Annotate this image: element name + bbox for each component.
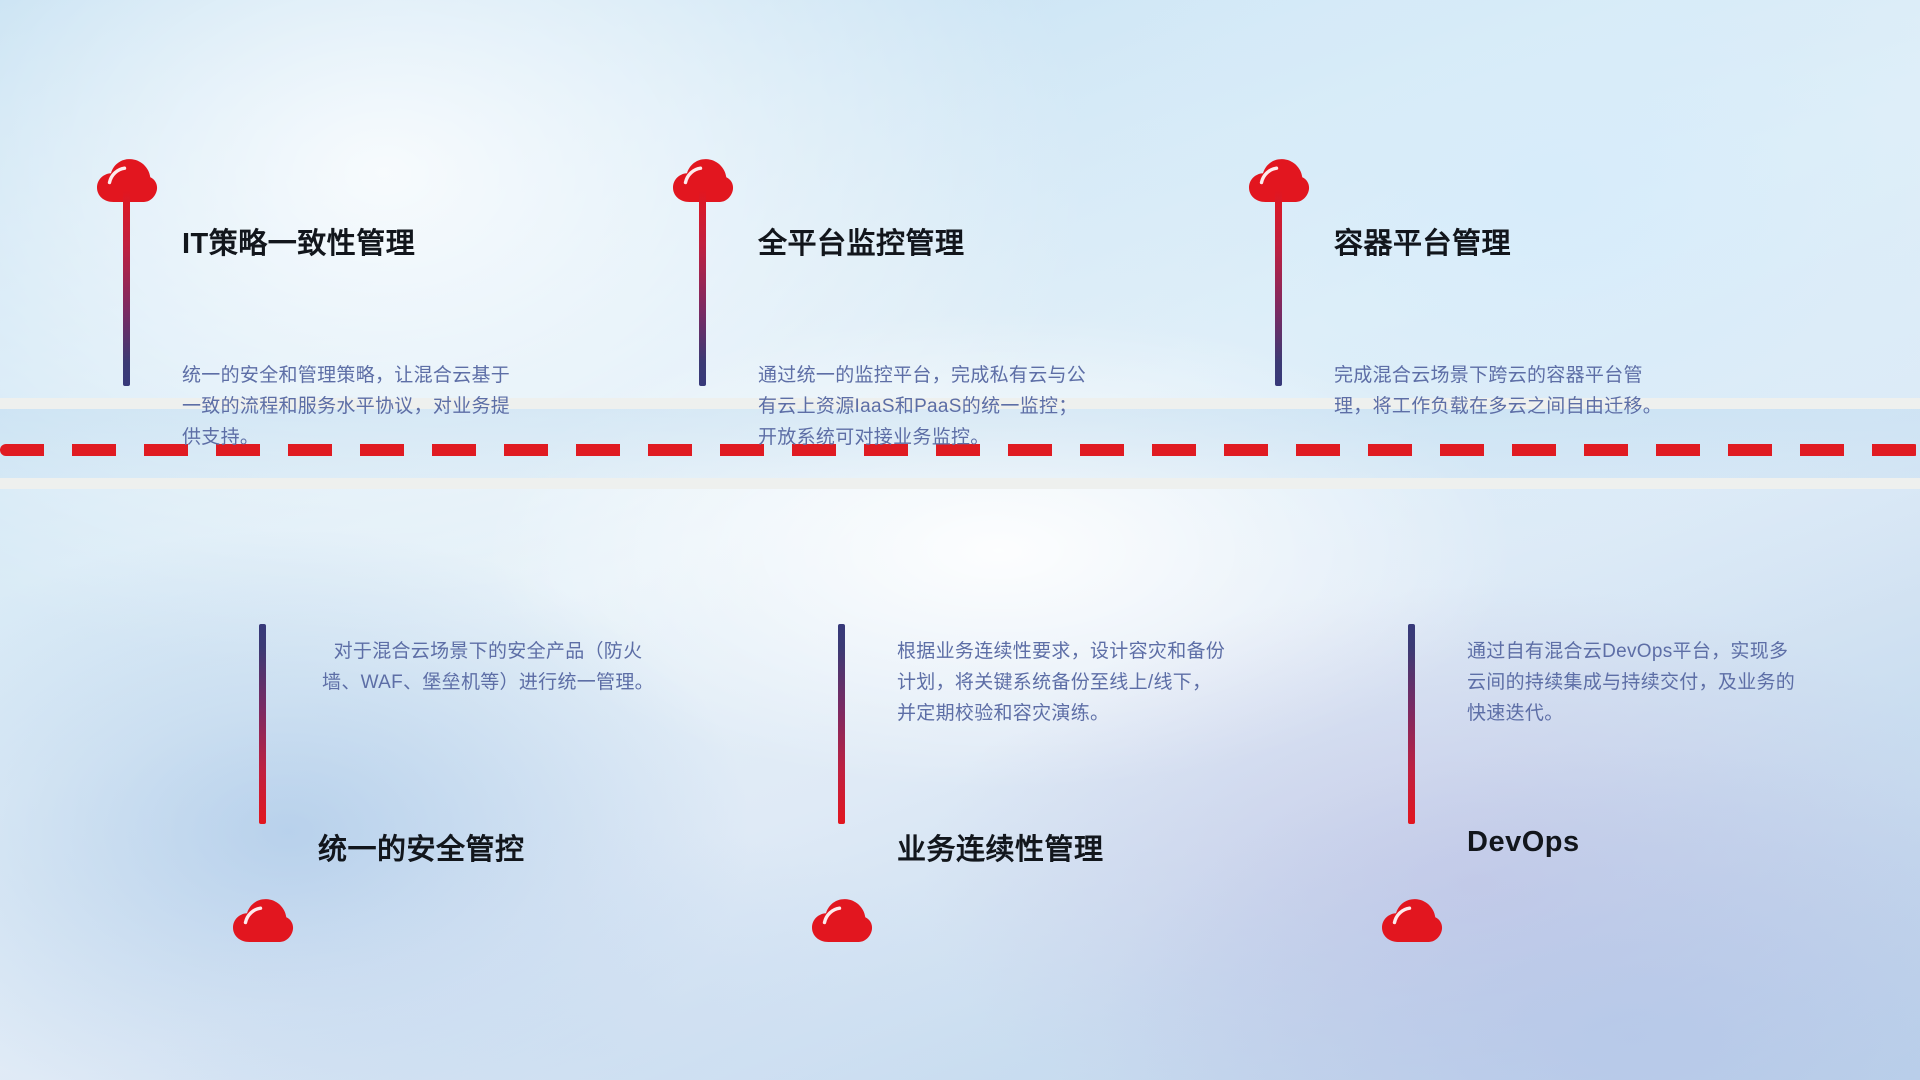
- cloud-icon: [811, 898, 873, 943]
- pin-pole: [1275, 190, 1282, 386]
- pin-pole: [699, 190, 706, 386]
- pin-pole: [123, 190, 130, 386]
- pin-title: DevOps: [1467, 826, 1580, 859]
- pin-title: 全平台监控管理: [758, 220, 965, 262]
- road-edge-bottom: [0, 478, 1920, 489]
- pin-pole: [1408, 624, 1415, 824]
- infographic-canvas: IT策略一致性管理 统一的安全和管理策略，让混合云基于一致的流程和服务水平协议，…: [0, 0, 1920, 1080]
- pin-pole: [259, 624, 266, 824]
- sky-glow-bottom-right: [1075, 734, 1920, 1080]
- pin-description: 根据业务连续性要求，设计容灾和备份计划，将关键系统备份至线上/线下，并定期校验和…: [897, 636, 1227, 729]
- pin-description: 通过自有混合云DevOps平台，实现多云间的持续集成与持续交付，及业务的快速迭代…: [1467, 636, 1797, 729]
- pin-description: 通过统一的监控平台，完成私有云与公有云上资源IaaS和PaaS的统一监控；开放系…: [758, 360, 1088, 453]
- pin-title: 容器平台管理: [1334, 220, 1511, 262]
- cloud-icon: [1381, 898, 1443, 943]
- pin-title: IT策略一致性管理: [182, 220, 415, 262]
- pin-description: 对于混合云场景下的安全产品（防火墙、WAF、堡垒机等）进行统一管理。: [318, 636, 658, 698]
- pin-description: 完成混合云场景下跨云的容器平台管理，将工作负载在多云之间自由迁移。: [1334, 360, 1664, 422]
- pin-pole: [838, 624, 845, 824]
- cloud-icon: [232, 898, 294, 943]
- pin-title: 业务连续性管理: [897, 826, 1104, 868]
- pin-title: 统一的安全管控: [318, 826, 525, 868]
- pin-description: 统一的安全和管理策略，让混合云基于一致的流程和服务水平协议，对业务提供支持。: [182, 360, 522, 453]
